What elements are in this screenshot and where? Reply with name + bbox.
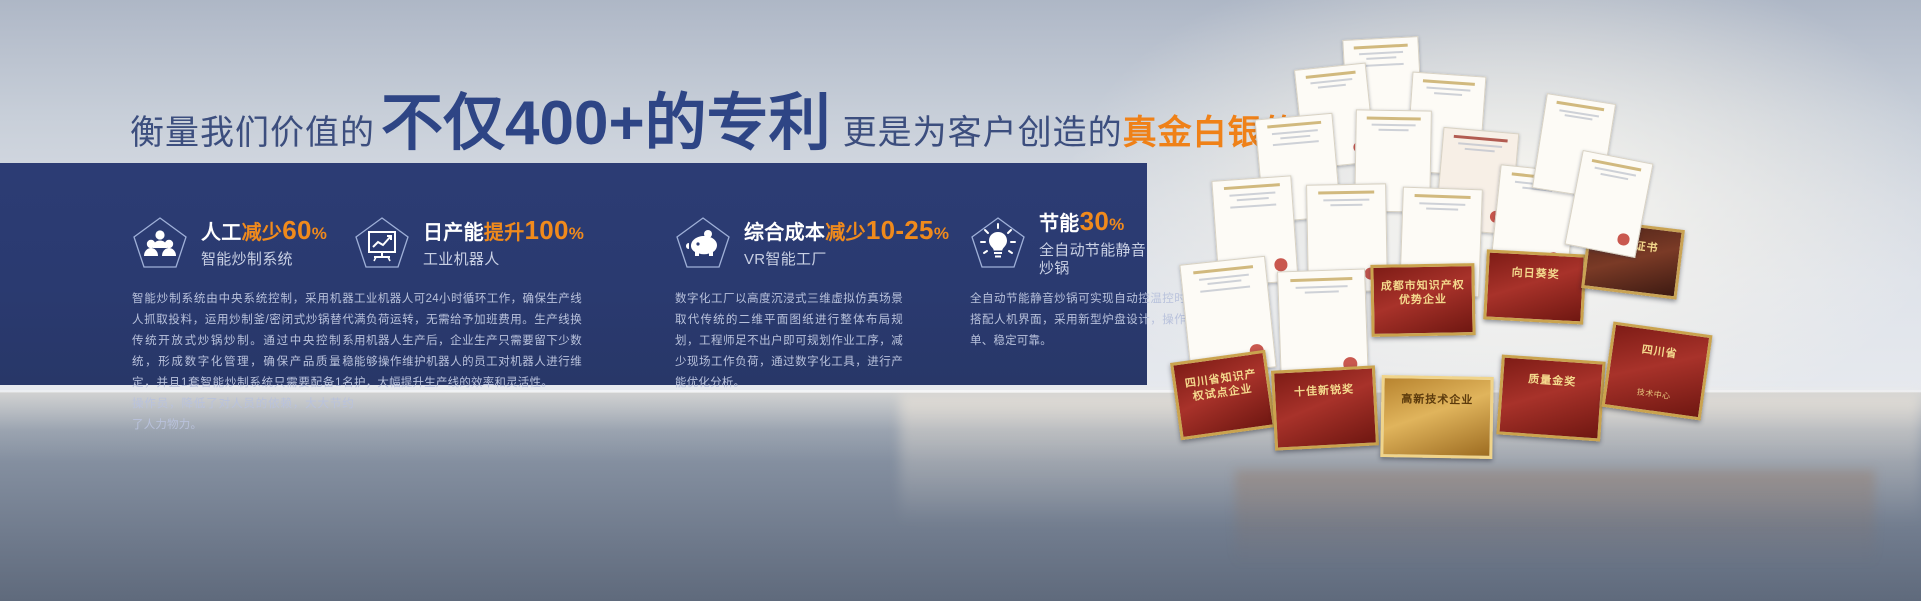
plaque-text: 成都市知识产权优势企业 bbox=[1380, 278, 1467, 308]
title-accent: 提升 bbox=[484, 222, 525, 244]
feature-item-capacity: 日产能提升100% 工业机器人 工业机器人可24小时循环工作，确保生产线满负荷运… bbox=[288, 163, 550, 385]
title-lead: 节能 bbox=[1039, 213, 1080, 235]
plaque-text: 四川省 bbox=[1618, 340, 1702, 365]
lightbulb-icon bbox=[970, 216, 1026, 270]
plaque-subtext: 技术中心 bbox=[1616, 383, 1692, 404]
feature-titles: 节能30% 全自动节能静音炒锅 bbox=[1039, 209, 1147, 278]
chart-board-icon bbox=[354, 216, 410, 270]
plaque-text: 向日葵奖 bbox=[1494, 264, 1577, 282]
award-plaque: 成都市知识产权优势企业 bbox=[1370, 263, 1475, 337]
pile-reflection bbox=[1235, 470, 1875, 590]
feature-header: 节能30% 全自动节能静音炒锅 bbox=[970, 215, 1147, 271]
feature-header: 人工减少60% 智能炒制系统 bbox=[132, 215, 288, 271]
page-headline: 衡量我们价值的 不仅400+的专利 更是为客户创造的 真金白银的效益 bbox=[130, 72, 1368, 142]
title-lead: 综合成本 bbox=[744, 222, 825, 244]
title-unit: % bbox=[1109, 215, 1124, 234]
title-number: 30 bbox=[1080, 206, 1110, 236]
plaque-text: 质量金奖 bbox=[1509, 371, 1596, 391]
piggy-bank-icon bbox=[675, 216, 731, 270]
feature-item-cost: 综合成本减少10-25% VR智能工厂 数字化工厂以高度沉浸式三维虚拟仿真场景取… bbox=[550, 163, 890, 385]
feature-body: 全自动节能静音炒锅可实现自动控温控时，搭配人机界面，采用新型炉盘设计，操作简单、… bbox=[970, 289, 1198, 352]
award-plaque: 十佳新锐奖 bbox=[1271, 365, 1379, 450]
award-plaque: 四川省知识产权试点企业 bbox=[1170, 350, 1276, 441]
feature-body: 数字化工厂以高度沉浸式三维虚拟仿真场景取代传统的二维平面图纸进行整体布局规划，工… bbox=[675, 289, 903, 394]
award-plaque: 高新技术企业 bbox=[1380, 375, 1493, 459]
feature-item-labor: 人工减少60% 智能炒制系统 智能炒制系统由中央系统控制，采用机器人抓取投料，运… bbox=[0, 163, 288, 385]
plaque-text: 十佳新锐奖 bbox=[1281, 382, 1368, 400]
award-plaque: 四川省 技术中心 bbox=[1602, 321, 1713, 420]
feature-item-energy: 节能30% 全自动节能静音炒锅 全自动节能静音炒锅可实现自动控温控时，搭配人机界… bbox=[890, 163, 1147, 385]
feature-title: 节能30% bbox=[1039, 209, 1147, 237]
feature-subtitle: 全自动节能静音炒锅 bbox=[1039, 242, 1147, 278]
feature-body: 工业机器人可24小时循环工作，确保生产线满负荷运转，无需给予加班费用。生产线换用… bbox=[354, 289, 582, 394]
people-group-icon bbox=[132, 216, 188, 270]
title-lead: 日产能 bbox=[423, 222, 484, 244]
headline-emphasis: 不仅400+的专利 bbox=[381, 72, 831, 162]
title-lead: 人工 bbox=[201, 222, 242, 244]
title-accent: 减少 bbox=[242, 222, 283, 244]
award-plaque: 向日葵奖 bbox=[1483, 249, 1587, 324]
feature-header: 综合成本减少10-25% VR智能工厂 bbox=[675, 215, 890, 271]
plaque-text: 高新技术企业 bbox=[1391, 392, 1485, 408]
feature-header: 日产能提升100% 工业机器人 bbox=[354, 215, 550, 271]
award-plaque: 质量金奖 bbox=[1496, 354, 1605, 441]
title-accent: 减少 bbox=[825, 222, 866, 244]
headline-middle: 更是为客户创造的 bbox=[843, 105, 1123, 154]
headline-lead: 衡量我们价值的 bbox=[130, 105, 375, 154]
plaque-text: 四川省知识产权试点企业 bbox=[1181, 367, 1263, 406]
certificate-and-award-pile: 成都市知识产权优势企业 向日葵奖 荣誉证书 四川省知识产权试点企业 十佳新锐奖 … bbox=[1195, 38, 1921, 478]
feature-columns: 人工减少60% 智能炒制系统 智能炒制系统由中央系统控制，采用机器人抓取投料，运… bbox=[0, 163, 1147, 385]
